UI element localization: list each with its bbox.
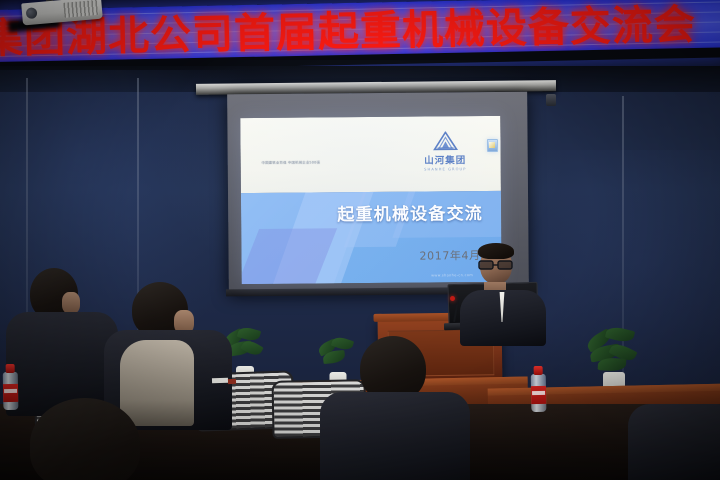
projector-lens [26, 7, 38, 19]
projected-desktop-icon [487, 139, 498, 152]
photo-scene: 集团湖北公司首届起重机械设备交流会 中国建筑业百强 中国机械企业500强 山河集… [0, 0, 720, 480]
water-bottle [3, 364, 19, 410]
presenter-hair [478, 243, 514, 259]
bottle-cap [6, 364, 15, 373]
microphone-indicator-icon [450, 296, 455, 301]
shanhe-triangle-logo-icon [432, 131, 458, 151]
presenter [460, 246, 546, 342]
audience-member-foreground [0, 398, 190, 480]
audience-face [62, 292, 80, 314]
audience-member [6, 268, 118, 418]
audience-member [320, 336, 470, 480]
audience-torso [320, 392, 470, 480]
bottle-label [531, 386, 546, 404]
wall-speaker-icon [546, 94, 556, 106]
table-item-card [228, 379, 236, 384]
audience-torso [628, 404, 720, 480]
eyeglasses-icon [478, 259, 516, 271]
logo-chinese-name: 山河集团 [413, 152, 477, 167]
bottle-label [3, 384, 18, 402]
company-logo: 山河集团 SHANHE GROUP [413, 131, 477, 172]
logo-english-name: SHANHE GROUP [413, 167, 477, 172]
table-item-card [212, 378, 228, 384]
water-bottle [531, 366, 547, 412]
audience-head [30, 398, 140, 480]
bottle-cap [534, 366, 543, 375]
slide-title: 起重机械设备交流 [337, 199, 483, 225]
projector-vents [63, 0, 98, 18]
audience-member-right [628, 404, 720, 480]
slide-corporate-lines: 中国建筑业百强 中国机械企业500强 [261, 161, 320, 167]
